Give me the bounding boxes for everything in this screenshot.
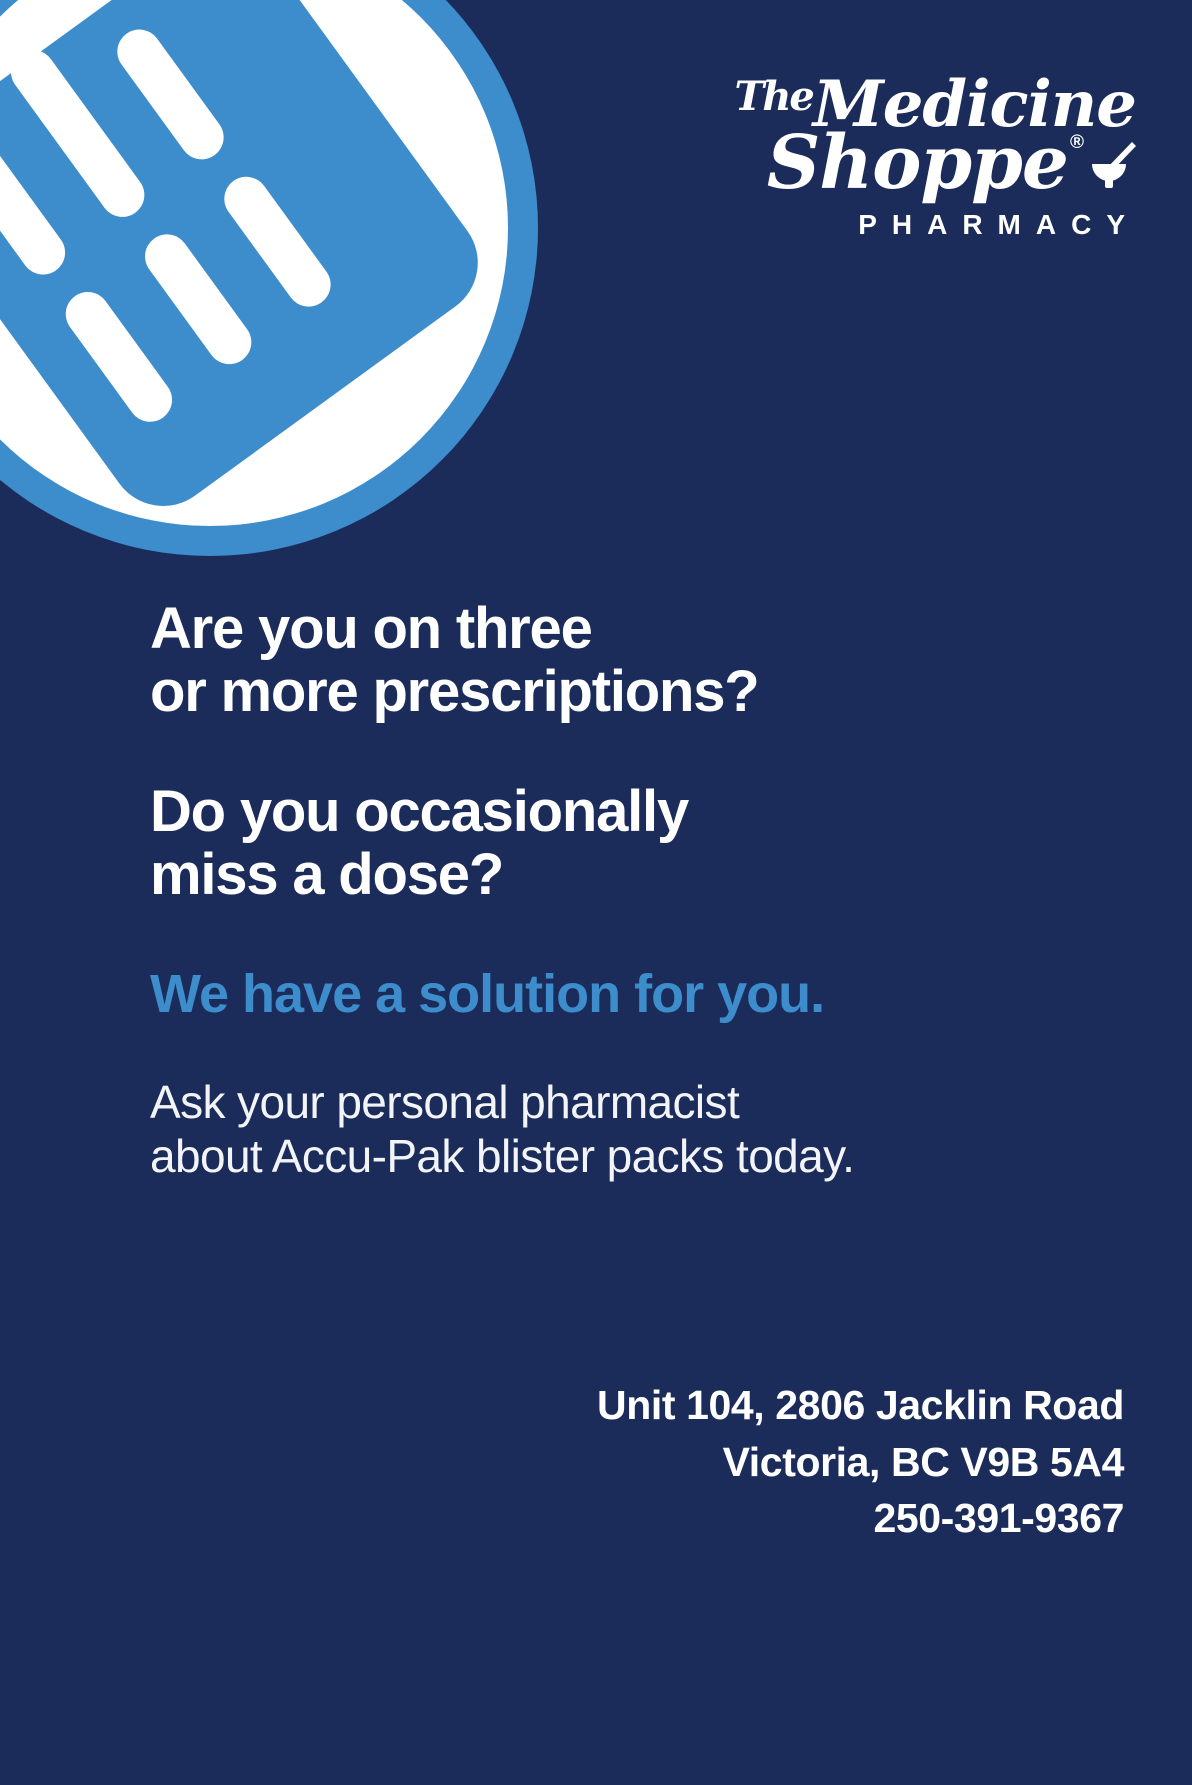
blister-pack-badge: [0, 0, 538, 556]
phone-number[interactable]: 250-391-9367: [364, 1490, 1124, 1547]
question-two-block: Do you occasionally miss a dose?: [150, 781, 1080, 906]
contact-block: Unit 104, 2806 Jacklin Road Victoria, BC…: [364, 1377, 1124, 1547]
body-line-two: about Accu-Pak blister packs today.: [150, 1129, 1080, 1183]
address-line-one: Unit 104, 2806 Jacklin Road: [364, 1377, 1124, 1434]
address-line-two: Victoria, BC V9B 5A4: [364, 1434, 1124, 1491]
registered-trademark-icon: ®: [1070, 132, 1084, 153]
brand-logo: TheMedicine Shoppe® PHARMACY: [720, 76, 1140, 241]
logo-word-the: The: [735, 73, 813, 120]
poster-canvas: TheMedicine Shoppe® PHARMACY Are you on …: [0, 0, 1192, 1785]
question-one-block: Are you on three or more prescriptions?: [150, 598, 1080, 723]
poster-copy: Are you on three or more prescriptions? …: [150, 598, 1080, 1183]
question-one-line-two: or more prescriptions?: [150, 661, 1080, 724]
logo-word-shoppe: Shoppe: [767, 120, 1068, 206]
question-one-line-one: Are you on three: [150, 598, 1080, 661]
question-two-line-one: Do you occasionally: [150, 781, 1080, 844]
mortar-and-pestle-icon: [1086, 133, 1140, 201]
body-copy-block: Ask your personal pharmacist about Accu-…: [150, 1075, 1080, 1184]
solution-statement: We have a solution for you.: [150, 965, 1080, 1023]
logo-line-shoppe: Shoppe®: [720, 129, 1140, 201]
body-line-one: Ask your personal pharmacist: [150, 1075, 1080, 1129]
question-two-line-two: miss a dose?: [150, 844, 1080, 907]
logo-tagline: PHARMACY: [720, 209, 1140, 241]
